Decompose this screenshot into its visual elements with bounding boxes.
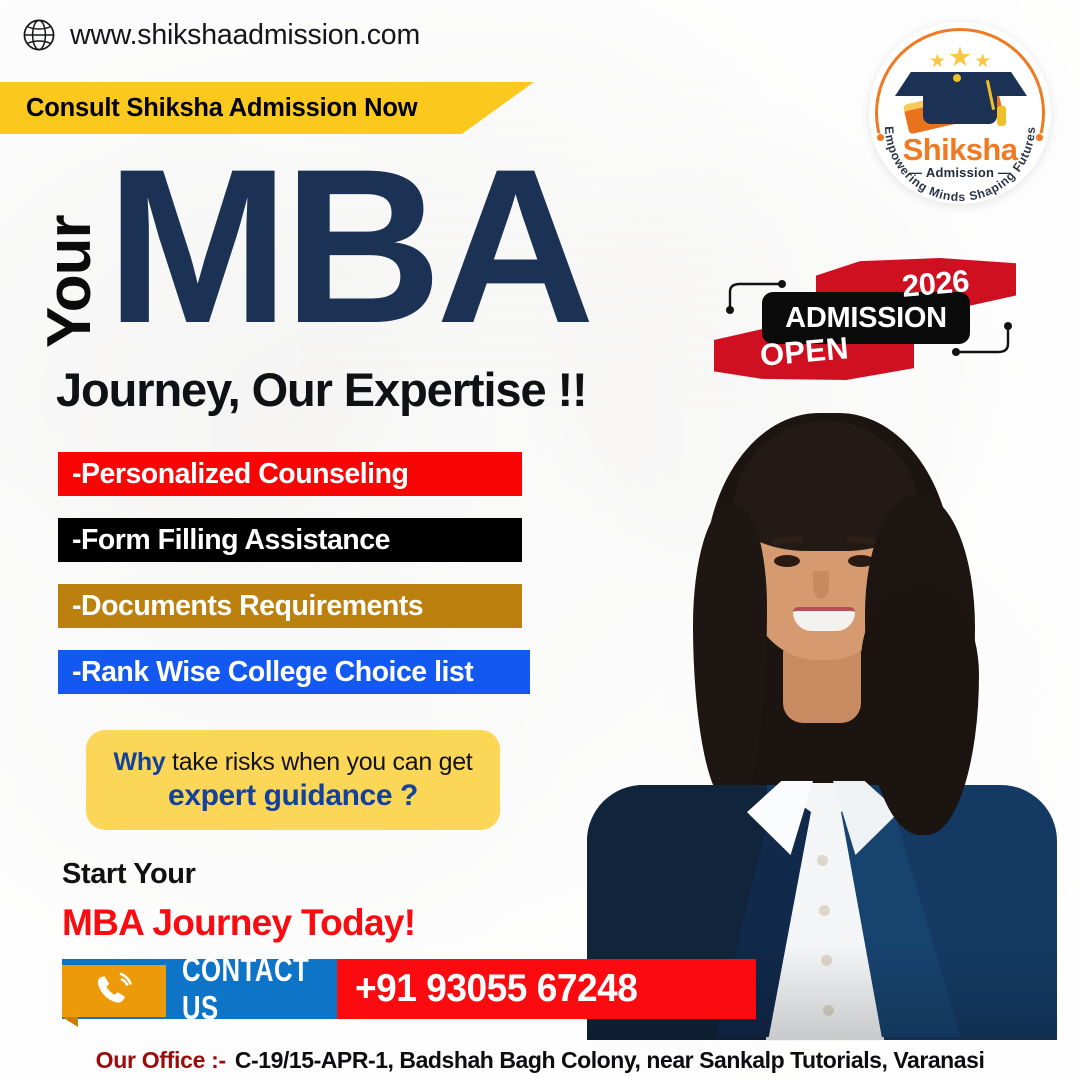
logo-tagline-arc: Empowering Minds Shaping Futures bbox=[869, 22, 1051, 204]
svg-text:Empowering Minds Shaping Futur: Empowering Minds Shaping Futures bbox=[882, 126, 1038, 204]
student-photo bbox=[565, 385, 1080, 1040]
why-card-line2: expert guidance ? bbox=[168, 779, 418, 813]
eye-left bbox=[774, 555, 800, 567]
website-row: www.shikshaadmission.com bbox=[22, 18, 420, 52]
logo-tagline-text: Empowering Minds Shaping Futures bbox=[882, 126, 1038, 204]
badge-hook-dot bbox=[778, 280, 786, 288]
feature-bar[interactable]: -Form Filling Assistance bbox=[58, 518, 522, 562]
admission-open-badge: ADMISSION 2026 OPEN bbox=[716, 256, 1016, 382]
smile bbox=[793, 607, 855, 631]
phone-icon-box bbox=[62, 965, 166, 1017]
contact-bar[interactable]: CONTACT US +91 93055 67248 bbox=[62, 959, 756, 1019]
brand-logo[interactable]: ★ ★ ★ Shiksha — Admission — Empowering M… bbox=[869, 22, 1051, 204]
badge-year-label: 2026 bbox=[901, 263, 971, 305]
consult-banner-label: Consult Shiksha Admission Now bbox=[26, 94, 417, 123]
website-url[interactable]: www.shikshaadmission.com bbox=[70, 19, 420, 52]
why-card-rest: take risks when you can get bbox=[165, 748, 472, 776]
contact-number-section[interactable]: +91 93055 67248 bbox=[337, 959, 756, 1019]
phone-call-icon bbox=[88, 965, 140, 1017]
why-card-line1: Why take risks when you can get bbox=[114, 748, 473, 777]
cta-line2: MBA Journey Today! bbox=[62, 902, 415, 944]
feature-list: -Personalized Counseling -Form Filling A… bbox=[58, 452, 530, 716]
why-card-highlight: Why bbox=[114, 748, 166, 776]
shirt-button bbox=[817, 855, 828, 866]
shirt-button bbox=[819, 905, 830, 916]
headline-tagline: Journey, Our Expertise !! bbox=[56, 362, 587, 417]
feature-bar[interactable]: -Rank Wise College Choice list bbox=[58, 650, 530, 694]
office-label: Our Office :- bbox=[96, 1047, 226, 1074]
office-address-footer: Our Office :- C-19/15-APR-1, Badshah Bag… bbox=[0, 1040, 1080, 1080]
poster-canvas: www.shikshaadmission.com Consult Shiksha… bbox=[0, 0, 1080, 1080]
contact-label-section: CONTACT US bbox=[62, 959, 337, 1019]
badge-hook-dot bbox=[726, 306, 734, 314]
why-expert-guidance-card: Why take risks when you can get expert g… bbox=[86, 730, 500, 830]
headline-mba: MBA bbox=[106, 136, 589, 356]
office-address: C-19/15-APR-1, Badshah Bagh Colony, near… bbox=[235, 1047, 985, 1074]
badge-hook-dot bbox=[952, 348, 960, 356]
cta-line1: Start Your bbox=[62, 858, 196, 891]
headline-your: Your bbox=[34, 215, 105, 348]
contact-phone-number[interactable]: +91 93055 67248 bbox=[355, 967, 637, 1011]
feature-bar[interactable]: -Documents Requirements bbox=[58, 584, 522, 628]
globe-icon bbox=[22, 18, 56, 52]
contact-us-label: CONTACT US bbox=[182, 951, 309, 1027]
badge-hook-dot bbox=[1004, 322, 1012, 330]
feature-bar[interactable]: -Personalized Counseling bbox=[58, 452, 522, 496]
nose bbox=[813, 571, 829, 599]
badge-status-label: OPEN bbox=[759, 330, 850, 374]
hair-left bbox=[693, 505, 767, 805]
